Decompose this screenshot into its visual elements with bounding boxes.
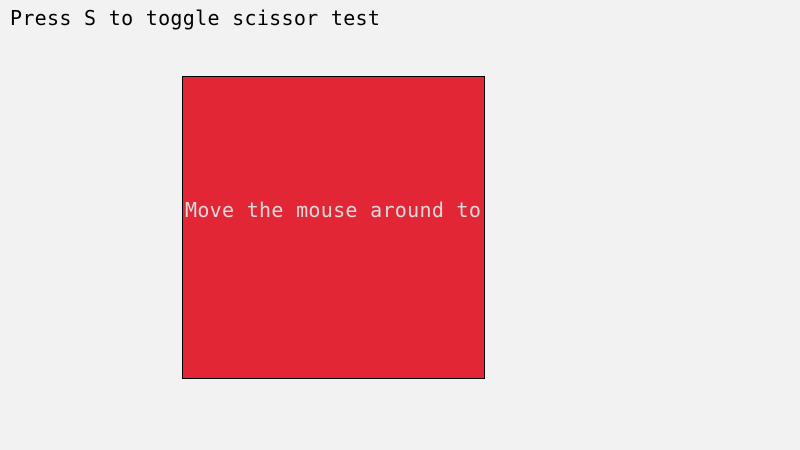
scissor-clip-region: Move the mouse around to reveal this tex… bbox=[183, 77, 484, 378]
scissor-toggle-hint-label: Press S to toggle scissor test bbox=[10, 7, 380, 29]
application-window: Press S to toggle scissor test Move the … bbox=[0, 0, 800, 450]
scissor-clipped-text: Move the mouse around to reveal this tex… bbox=[185, 199, 484, 221]
scissor-rectangle[interactable]: Move the mouse around to reveal this tex… bbox=[182, 76, 485, 379]
